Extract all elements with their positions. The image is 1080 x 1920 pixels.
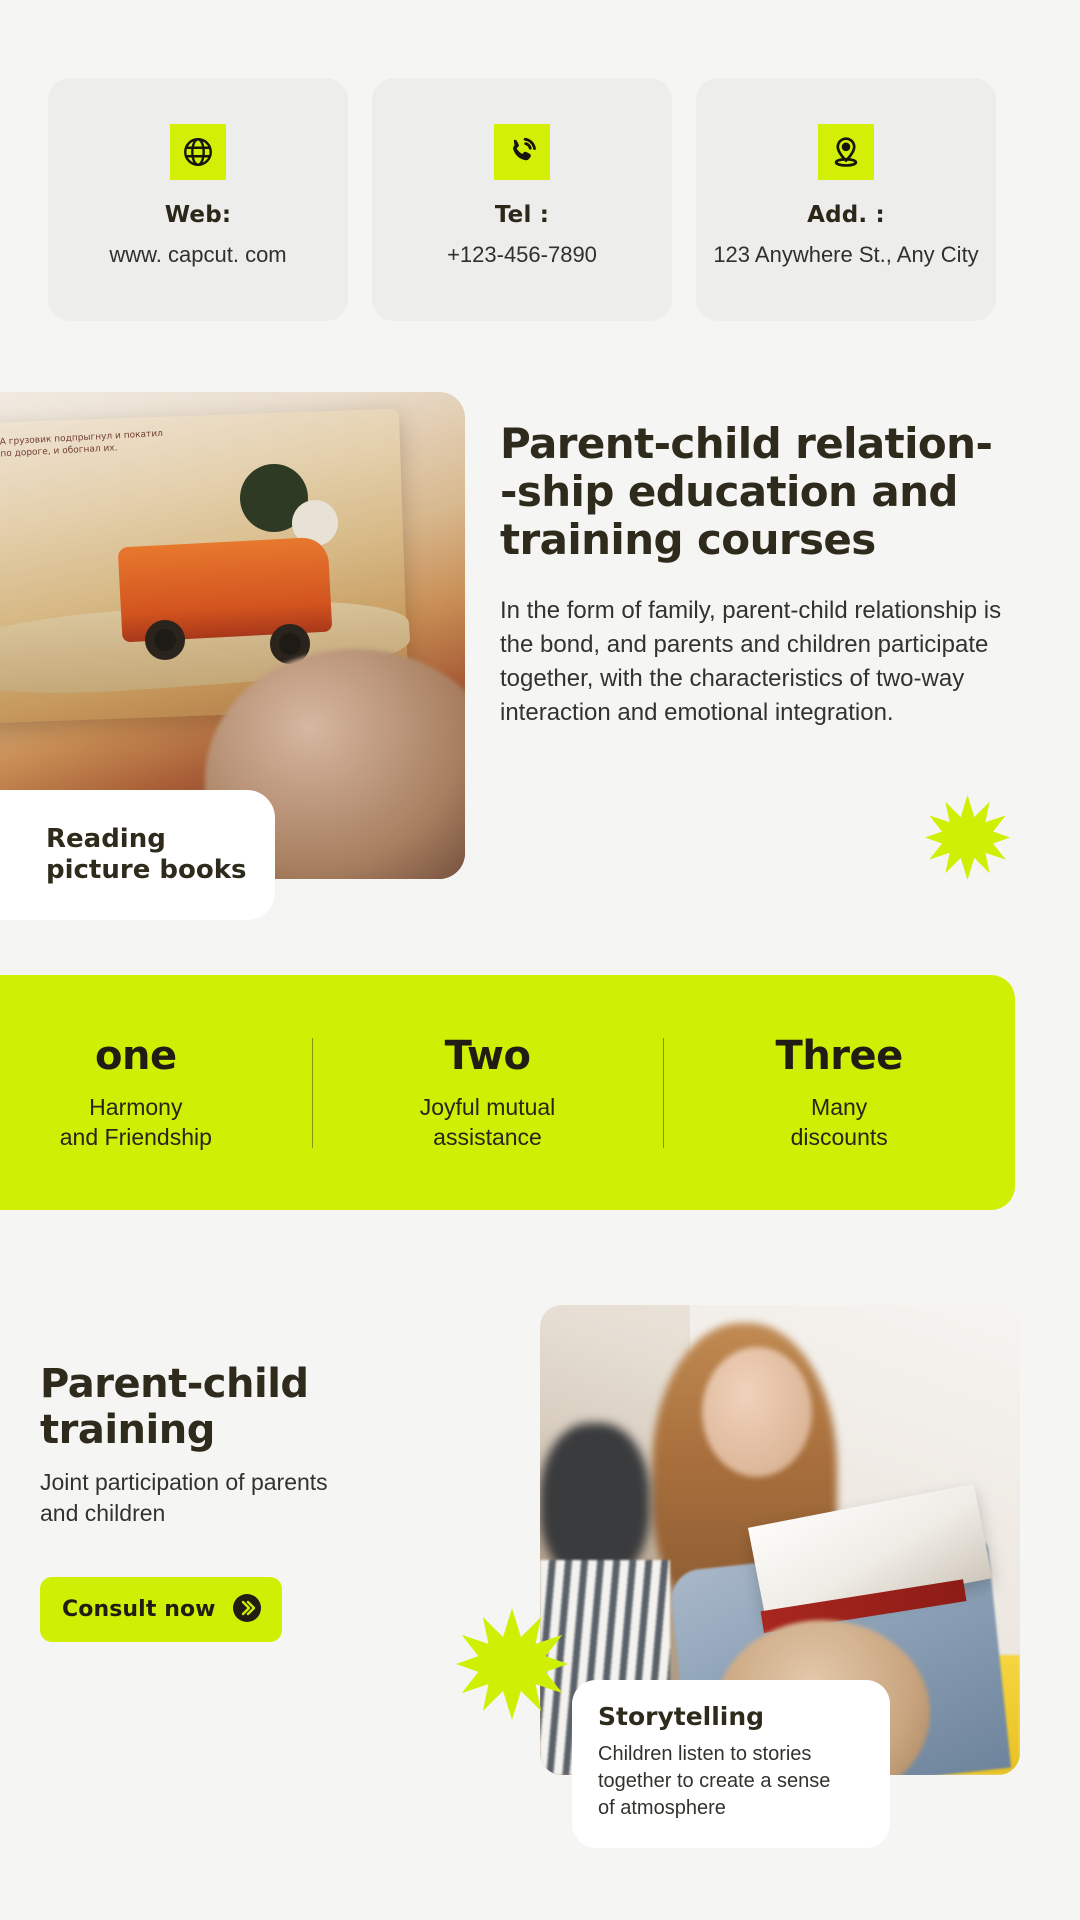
contact-label: Add. :	[807, 202, 885, 228]
consult-now-button[interactable]: Consult now	[40, 1577, 282, 1642]
benefit-item-one: one Harmony and Friendship	[0, 1033, 312, 1153]
training-text-block: Parent-child training Joint participatio…	[40, 1362, 500, 1642]
training-title: Parent-child training	[40, 1362, 500, 1453]
benefit-number: Three	[677, 1033, 1001, 1079]
benefits-bar: one Harmony and Friendship Two Joyful mu…	[0, 975, 1015, 1210]
child-silhouette	[540, 1423, 650, 1583]
benefit-description: Many discounts	[677, 1093, 1001, 1153]
book-illustration-wheel	[145, 620, 185, 660]
phone-icon	[494, 124, 550, 180]
badge-label: Reading picture books	[46, 824, 246, 886]
storytelling-card: Storytelling Children listen to stories …	[572, 1680, 890, 1848]
contact-value: 123 Anywhere St., Any City	[713, 242, 978, 268]
contact-label: Tel :	[495, 202, 549, 228]
storytelling-body: Children listen to stories together to c…	[598, 1741, 864, 1822]
contact-card-web[interactable]: Web: www. capcut. com	[48, 78, 348, 321]
contact-card-tel[interactable]: Tel : +123-456-7890	[372, 78, 672, 321]
benefit-description: Harmony and Friendship	[0, 1093, 298, 1153]
contact-label: Web:	[165, 202, 232, 228]
contact-strip: Web: www. capcut. com Tel : +123-456-789…	[48, 78, 1080, 321]
hero-text-block: Parent-child relation--ship education an…	[500, 420, 1040, 730]
training-subtitle: Joint participation of parents and child…	[40, 1467, 500, 1529]
benefit-description: Joyful mutual assistance	[326, 1093, 650, 1153]
consult-now-label: Consult now	[62, 1597, 216, 1622]
hero-description: In the form of family, parent-child rela…	[500, 594, 1030, 730]
benefit-number: one	[0, 1033, 298, 1079]
contact-card-address[interactable]: Add. : 123 Anywhere St., Any City	[696, 78, 996, 321]
circle-double-chevron-right-icon	[232, 1593, 262, 1626]
poster-page: Web: www. capcut. com Tel : +123-456-789…	[0, 0, 1080, 1920]
benefit-item-three: Three Many discounts	[663, 1033, 1015, 1153]
contact-value: www. capcut. com	[109, 242, 286, 268]
page-title: Parent-child relation--ship education an…	[500, 420, 1040, 564]
storytelling-title: Storytelling	[598, 1702, 864, 1731]
globe-icon	[170, 124, 226, 180]
badge-reading-picture-books: Reading picture books	[0, 790, 275, 920]
woman-face	[702, 1347, 812, 1477]
starburst-icon	[456, 1608, 568, 1720]
starburst-icon	[925, 795, 1010, 880]
benefit-number: Two	[326, 1033, 650, 1079]
location-pin-icon	[818, 124, 874, 180]
benefit-item-two: Two Joyful mutual assistance	[312, 1033, 664, 1153]
contact-value: +123-456-7890	[447, 242, 597, 268]
